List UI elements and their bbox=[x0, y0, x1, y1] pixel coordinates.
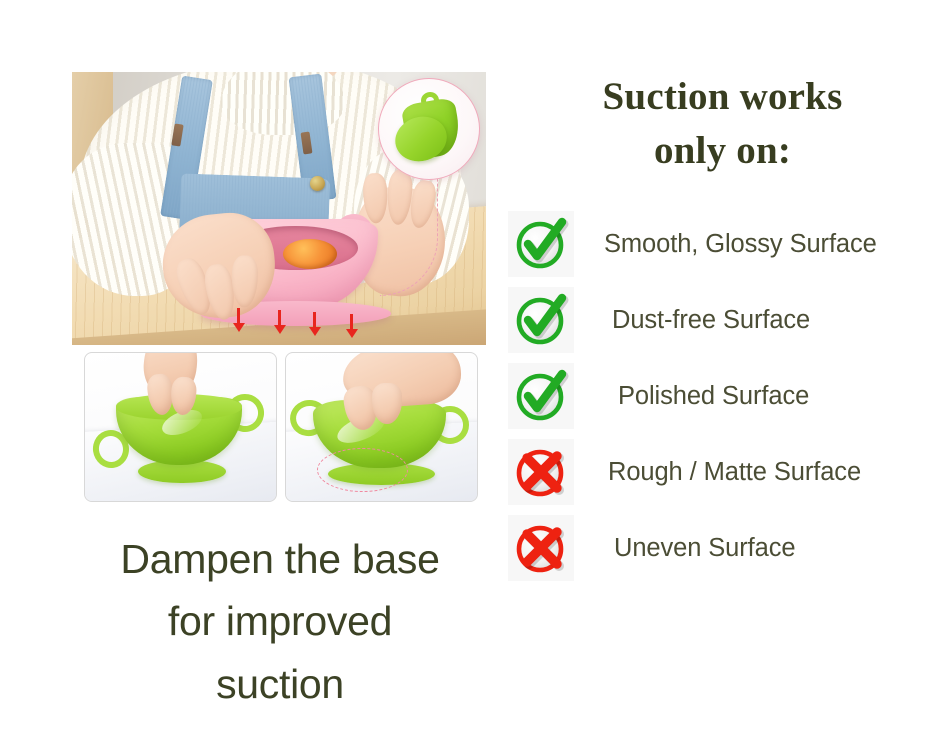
heading-line-2: only on: bbox=[500, 124, 945, 178]
heading-line-1: Suction works bbox=[500, 70, 945, 124]
surface-label: Polished Surface bbox=[618, 382, 809, 411]
check-circle-icon bbox=[508, 363, 574, 429]
cross-circle-icon bbox=[508, 515, 574, 581]
down-arrow-icon bbox=[237, 308, 240, 324]
suction-pressure-arrows bbox=[72, 72, 486, 345]
infographic-page: Dampen the base for improved suction Suc… bbox=[0, 0, 945, 756]
page-title: Suction works only on: bbox=[500, 70, 945, 178]
baby-holding-pink-suction-bowl-photo bbox=[72, 72, 486, 345]
down-arrow-icon bbox=[313, 312, 316, 328]
caption-line-3: suction bbox=[60, 653, 500, 715]
hand-pressing-green-bowl-photo bbox=[285, 352, 478, 502]
surface-label: Uneven Surface bbox=[614, 534, 795, 563]
left-column: Dampen the base for improved suction bbox=[0, 0, 500, 756]
surface-label: Smooth, Glossy Surface bbox=[604, 230, 877, 259]
cross-circle-icon bbox=[508, 439, 574, 505]
down-arrow-icon bbox=[350, 314, 353, 330]
hand-lifting-green-bowl-photo bbox=[84, 352, 277, 502]
caption-text: Dampen the base for improved suction bbox=[60, 528, 500, 715]
check-circle-icon bbox=[508, 287, 574, 353]
surface-row-supported: Dust-free Surface bbox=[508, 282, 945, 358]
caption-line-1: Dampen the base bbox=[60, 528, 500, 590]
caption-line-2: for improved bbox=[60, 590, 500, 652]
surface-row-supported: Polished Surface bbox=[508, 358, 945, 434]
surface-compatibility-list: Smooth, Glossy SurfaceDust-free SurfaceP… bbox=[508, 206, 945, 586]
surface-label: Dust-free Surface bbox=[612, 306, 810, 335]
down-arrow-icon bbox=[278, 310, 281, 326]
surface-row-supported: Smooth, Glossy Surface bbox=[508, 206, 945, 282]
surface-row-unsupported: Rough / Matte Surface bbox=[508, 434, 945, 510]
surface-row-unsupported: Uneven Surface bbox=[508, 510, 945, 586]
surface-label: Rough / Matte Surface bbox=[608, 458, 861, 487]
suction-area-indicator bbox=[317, 448, 409, 492]
check-circle-icon bbox=[508, 211, 574, 277]
thumbnail-photo-row bbox=[84, 352, 484, 502]
right-column: Suction works only on: Smooth, Glossy Su… bbox=[500, 0, 945, 756]
